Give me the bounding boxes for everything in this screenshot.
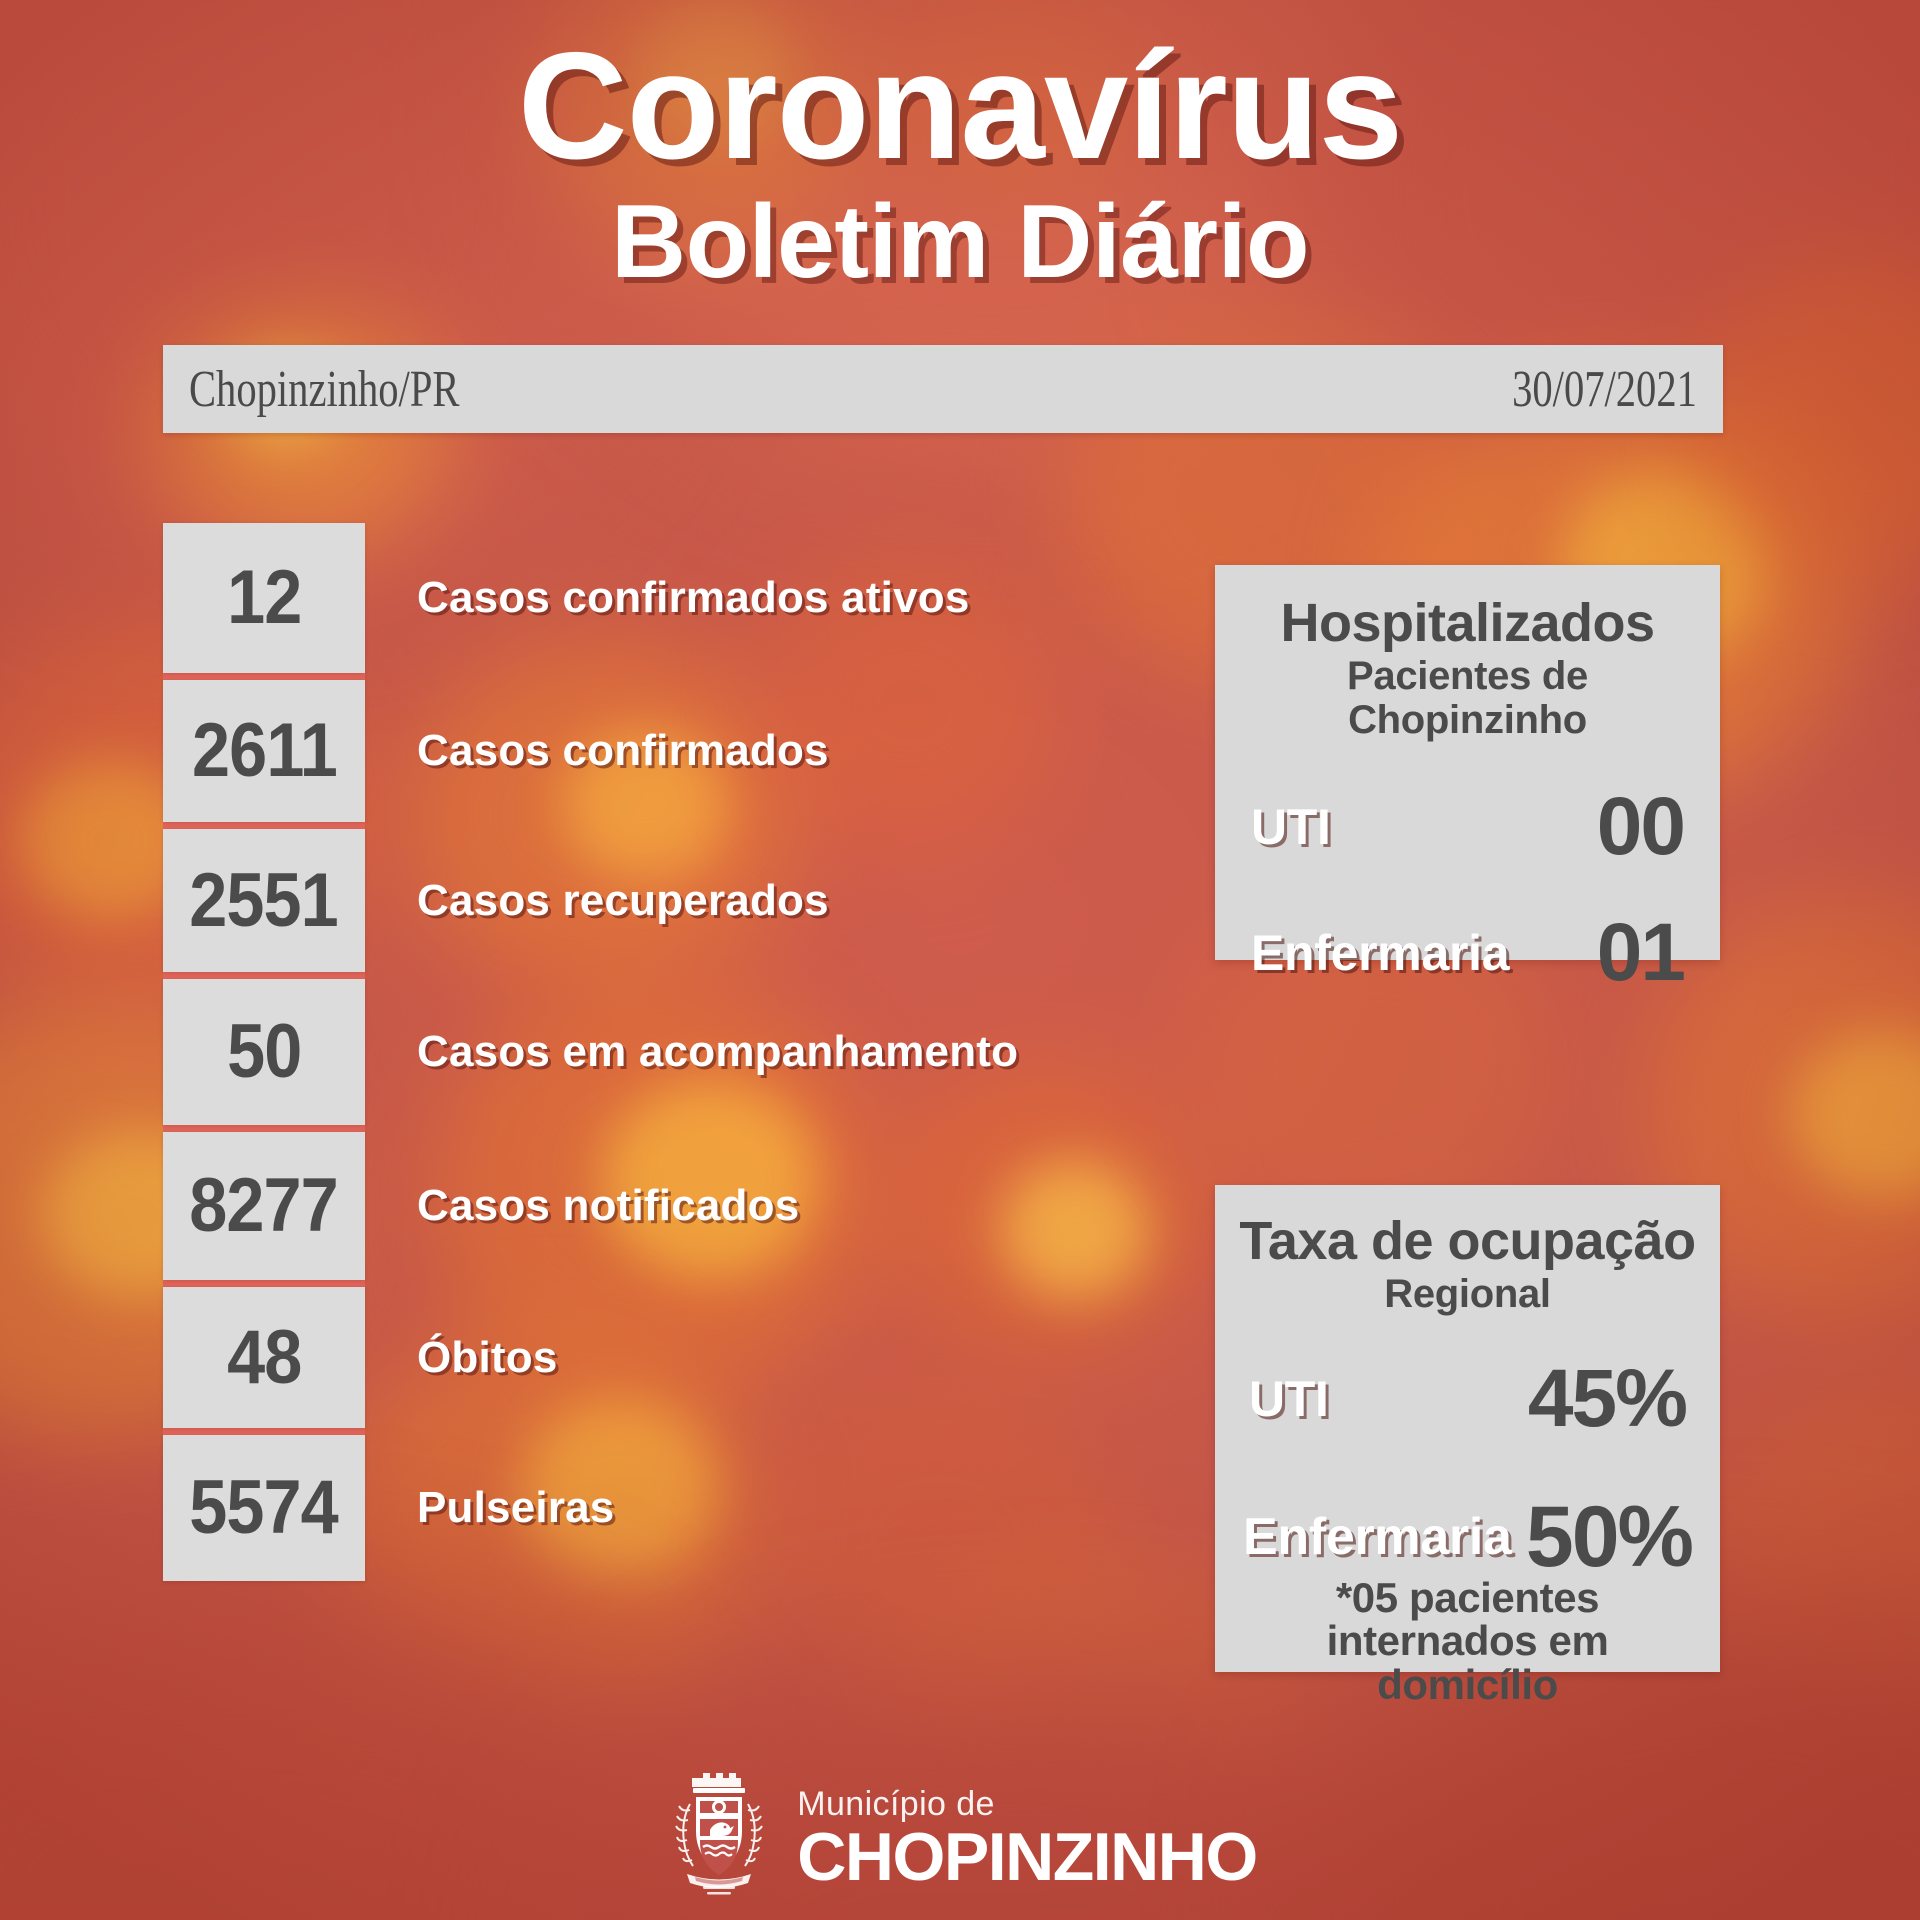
page-title: Coronavírus <box>0 30 1920 182</box>
occupancy-panel: Taxa de ocupação Regional UTI 45% Enferm… <box>1215 1185 1720 1672</box>
stat-divider <box>163 673 365 680</box>
page-header: Coronavírus Boletim Diário <box>0 30 1920 297</box>
stat-value-box: 50 <box>163 979 365 1125</box>
stat-label: Pulseiras <box>365 1435 1163 1581</box>
occupancy-subtitle: Regional <box>1235 1272 1700 1316</box>
page-subtitle: Boletim Diário <box>0 188 1920 297</box>
hospitalized-icu-label: UTI <box>1251 798 1331 856</box>
bulletin-root: Coronavírus Boletim Diário Chopinzinho/P… <box>0 0 1920 1920</box>
stat-row-monitored-cases: 50 Casos em acompanhamento <box>163 979 1163 1125</box>
stat-value-box: 8277 <box>163 1132 365 1280</box>
coat-of-arms-icon <box>663 1768 775 1910</box>
stat-value: 2611 <box>192 713 337 789</box>
stat-row-notified-cases: 8277 Casos notificados <box>163 1132 1163 1280</box>
stat-label: Casos recuperados <box>365 829 1163 972</box>
stat-divider <box>163 1125 365 1132</box>
stat-row-wristbands: 5574 Pulseiras <box>163 1435 1163 1581</box>
stat-value-box: 5574 <box>163 1435 365 1581</box>
stat-row-confirmed-cases: 2611 Casos confirmados <box>163 680 1163 822</box>
hospitalized-panel: Hospitalizados Pacientes de Chopinzinho … <box>1215 565 1720 960</box>
occupancy-ward-label: Enfermaria <box>1243 1507 1512 1567</box>
occupancy-title: Taxa de ocupação <box>1235 1213 1700 1270</box>
stat-value: 12 <box>227 560 301 636</box>
stat-label: Casos notificados <box>365 1132 1163 1280</box>
hospitalized-ward-row: Enfermaria 01 <box>1237 912 1698 994</box>
occupancy-icu-label: UTI <box>1249 1370 1329 1428</box>
stat-label: Casos em acompanhamento <box>365 979 1163 1125</box>
date-label: 30/07/2021 <box>1512 360 1697 419</box>
hospitalized-ward-value: 01 <box>1597 912 1684 994</box>
stat-value: 8277 <box>190 1168 339 1244</box>
municipality-brand: Município de CHOPINZINHO <box>797 1787 1257 1891</box>
brand-prefix: Município de <box>797 1787 1257 1821</box>
stat-value: 50 <box>227 1014 301 1090</box>
stat-value-box: 12 <box>163 523 365 673</box>
hospitalized-title: Hospitalizados <box>1237 595 1698 652</box>
hospitalized-subtitle: Pacientes de Chopinzinho <box>1237 654 1698 742</box>
footer: Município de CHOPINZINHO <box>0 1768 1920 1910</box>
stat-value: 5574 <box>190 1470 339 1546</box>
stat-value: 2551 <box>190 863 339 939</box>
occupancy-ward-row: Enfermaria 50% <box>1235 1494 1700 1580</box>
stat-row-deaths: 48 Óbitos <box>163 1287 1163 1428</box>
stat-divider <box>163 972 365 979</box>
location-label: Chopinzinho/PR <box>189 360 459 419</box>
stat-divider <box>163 1280 365 1287</box>
stat-value-box: 48 <box>163 1287 365 1428</box>
stat-row-active-cases: 12 Casos confirmados ativos <box>163 523 1163 673</box>
hospitalized-ward-label: Enfermaria <box>1251 924 1509 982</box>
stat-value-box: 2551 <box>163 829 365 972</box>
stat-label: Óbitos <box>365 1287 1163 1428</box>
stat-label: Casos confirmados ativos <box>365 523 1163 673</box>
occupancy-icu-value: 45% <box>1528 1358 1686 1440</box>
occupancy-ward-value: 50% <box>1526 1494 1692 1580</box>
stat-divider <box>163 822 365 829</box>
stats-list: 12 Casos confirmados ativos 2611 Casos c… <box>163 523 1163 1581</box>
hospitalized-icu-row: UTI 00 <box>1237 786 1698 868</box>
stat-row-recovered-cases: 2551 Casos recuperados <box>163 829 1163 972</box>
occupancy-icu-row: UTI 45% <box>1235 1358 1700 1440</box>
brand-name: CHOPINZINHO <box>797 1823 1257 1891</box>
hospitalized-icu-value: 00 <box>1597 786 1684 868</box>
info-bar: Chopinzinho/PR 30/07/2021 <box>163 345 1723 433</box>
stat-label: Casos confirmados <box>365 680 1163 822</box>
occupancy-note: *05 pacientes internados em domicílio <box>1235 1576 1700 1707</box>
stat-value: 48 <box>227 1320 301 1396</box>
stat-divider <box>163 1428 365 1435</box>
stat-value-box: 2611 <box>163 680 365 822</box>
